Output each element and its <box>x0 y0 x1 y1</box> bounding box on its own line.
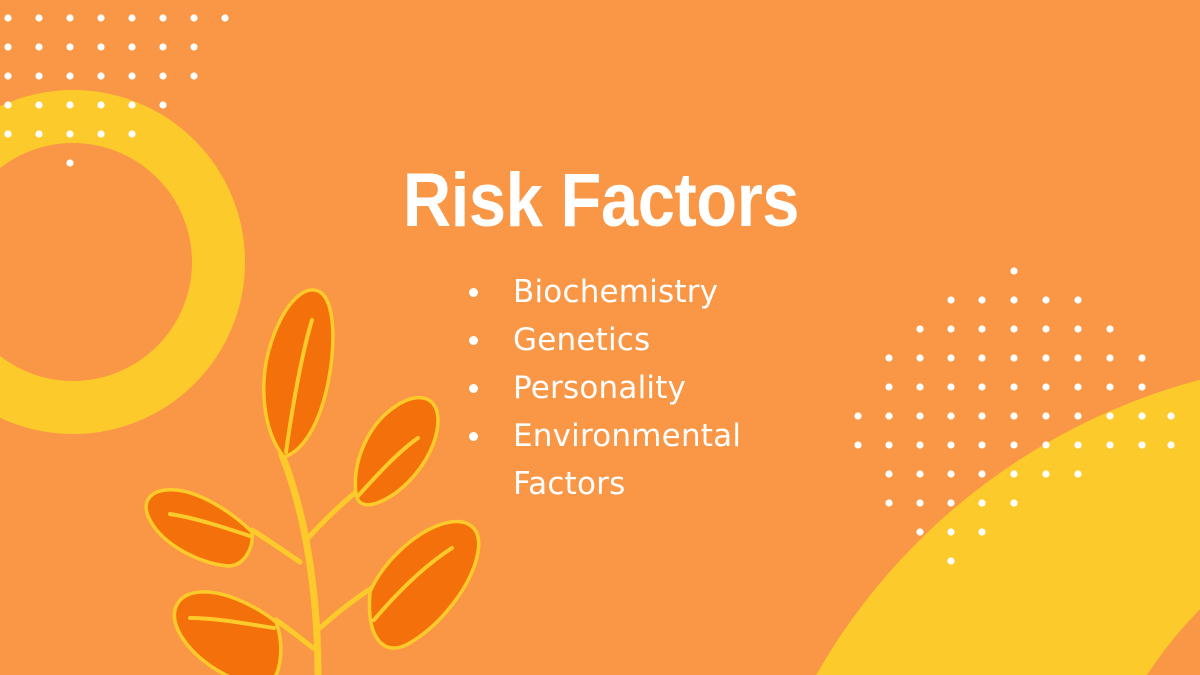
page-title: Risk Factors <box>73 163 1129 239</box>
list-item: Genetics <box>455 316 785 364</box>
slide-content: Risk Factors Biochemistry Genetics Perso… <box>0 0 1200 675</box>
slide-canvas: Risk Factors Biochemistry Genetics Perso… <box>0 0 1200 675</box>
list-item: Environmental Factors <box>455 412 785 508</box>
list-item: Personality <box>455 364 785 412</box>
list-item: Biochemistry <box>455 268 785 316</box>
risk-factor-list: Biochemistry Genetics Personality Enviro… <box>455 268 785 508</box>
